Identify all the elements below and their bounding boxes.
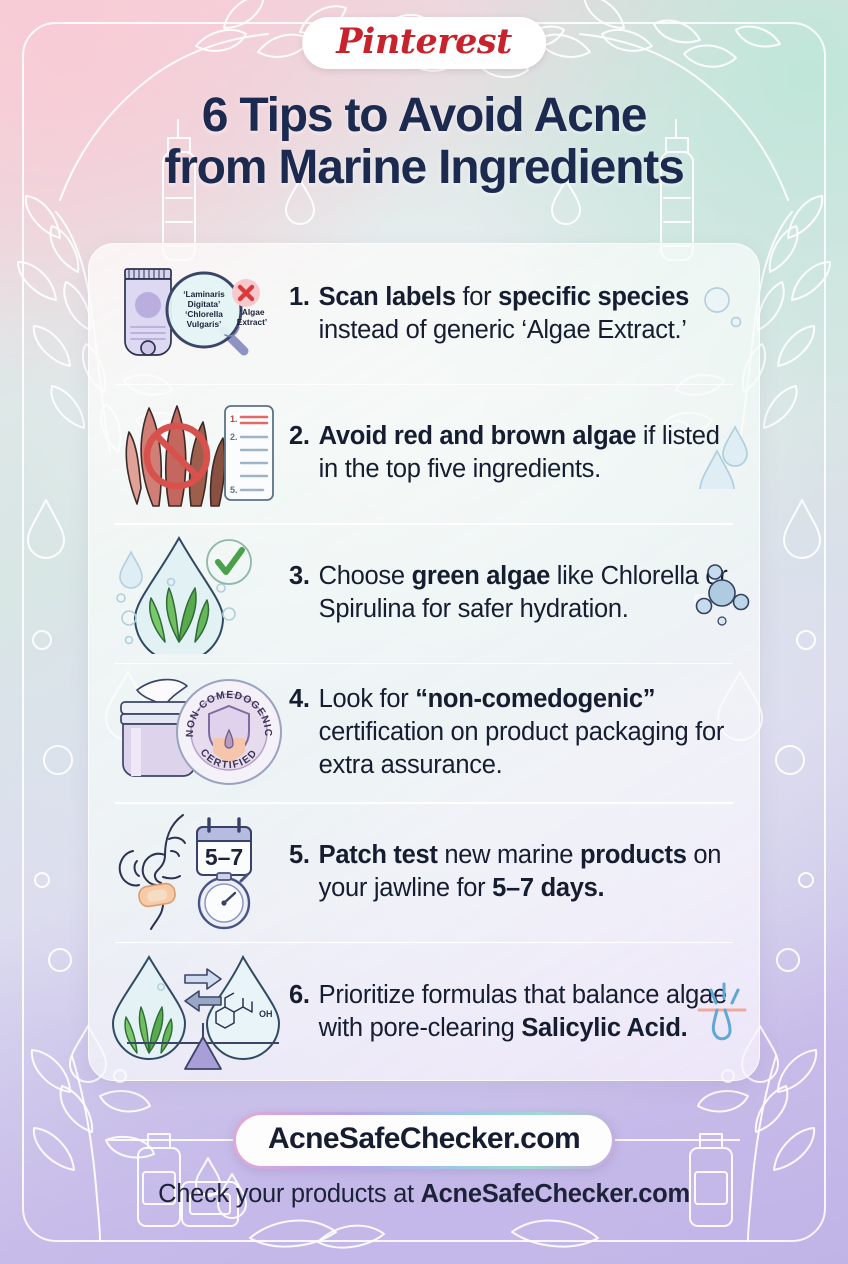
ingredient-list-number-last: 5.	[230, 485, 238, 495]
molecule-icon	[691, 557, 753, 629]
rejected-label-line-2: Extract’	[237, 317, 267, 327]
tip-body-2: Avoid red and brown algae if listed in t…	[319, 420, 739, 486]
tip-row-4: NON-COMEDOGENIC CERTIFIED 4. Look for “n…	[89, 663, 759, 803]
tip-number-1: 1.	[289, 281, 310, 314]
tip-body-6: Prioritize formulas that balance algae w…	[319, 979, 739, 1045]
green-algae-droplet-check-icon	[107, 532, 289, 654]
tip-text-3: 3. Choose green algae like Chlorella or …	[289, 560, 743, 626]
page-title: 6 Tips to Avoid Acne from Marine Ingredi…	[0, 90, 848, 194]
tip-text-2: 2. Avoid red and brown algae if listed i…	[289, 420, 743, 486]
pore-icon	[691, 976, 753, 1048]
tube-magnifier-icon: ‘Laminaris Digitata’ ‘Chlorella Vulgaris…	[107, 253, 289, 375]
face-patch-test-calendar-icon: 5–7	[107, 811, 289, 933]
tip-text-6: 6. Prioritize formulas that balance alga…	[289, 979, 743, 1045]
red-brown-algae-prohibited-icon: 1. 2. 5.	[107, 392, 289, 514]
tip-number-3: 3.	[289, 560, 310, 593]
tip-body-1: Scan labels for specific species instead…	[319, 281, 739, 347]
magnifier-species-line-1: ‘Laminaris	[183, 289, 225, 299]
balance-algae-salicylic-icon: OH	[107, 951, 289, 1073]
salicylic-molecule-label: OH	[259, 1009, 273, 1019]
magnifier-species-line-2: Digitata’	[188, 299, 221, 309]
rejected-label-line-1: ‘Algae	[240, 307, 265, 317]
tip-row-1: ‘Laminaris Digitata’ ‘Chlorella Vulgaris…	[89, 244, 759, 384]
tip-number-2: 2.	[289, 420, 310, 453]
footer-tagline: Check your products at AcneSafeChecker.c…	[0, 1180, 848, 1209]
pinterest-logo-text: Pinterest	[336, 24, 512, 59]
ingredient-list-number-second: 2.	[230, 432, 238, 442]
magnifier-species-line-3: ‘Chlorella	[185, 309, 223, 319]
tip-row-5: 5–7 5. Patch test new marine products on…	[89, 802, 759, 942]
tip-body-5: Patch test new marine products on your j…	[319, 839, 739, 905]
footer-website-badge-text: AcneSafeChecker.com	[236, 1115, 612, 1166]
tip-text-4: 4. Look for “non-comedogenic” certificat…	[289, 683, 743, 782]
tips-card: ‘Laminaris Digitata’ ‘Chlorella Vulgaris…	[88, 243, 760, 1081]
magnifier-species-line-4: Vulgaris’	[187, 319, 222, 329]
page-title-line-2: from Marine Ingredients	[34, 142, 814, 194]
tip-text-5: 5. Patch test new marine products on you…	[289, 839, 743, 905]
tip-body-4: Look for “non-comedogenic” certification…	[319, 683, 739, 782]
tip-row-6: OH 6. Prioritize formulas that balance a…	[89, 942, 759, 1081]
water-drop-icon	[691, 417, 753, 489]
tip-text-1: 1. Scan labels for specific species inst…	[289, 281, 743, 347]
footer-tagline-prefix: Check your products at	[158, 1180, 420, 1208]
bubble-icon	[691, 278, 753, 350]
tip-number-6: 6.	[289, 979, 310, 1012]
footer-website-badge[interactable]: AcneSafeChecker.com	[233, 1112, 615, 1169]
tip-row-2: 1. 2. 5. 2. Avoid red and brown algae if…	[89, 384, 759, 524]
footer-tagline-brand: AcneSafeChecker.com	[421, 1180, 690, 1208]
tip-number-5: 5.	[289, 839, 310, 872]
cream-jar-certification-seal-icon: NON-COMEDOGENIC CERTIFIED	[107, 672, 289, 794]
calendar-days-text: 5–7	[205, 844, 243, 870]
tip-number-4: 4.	[289, 683, 310, 716]
tip-body-3: Choose green algae like Chlorella or Spi…	[319, 560, 739, 626]
tip-row-3: 3. Choose green algae like Chlorella or …	[89, 523, 759, 663]
ingredient-list-number-first: 1.	[230, 414, 238, 424]
page-title-line-1: 6 Tips to Avoid Acne	[34, 90, 814, 142]
pinterest-logo-badge: Pinterest	[302, 17, 546, 69]
